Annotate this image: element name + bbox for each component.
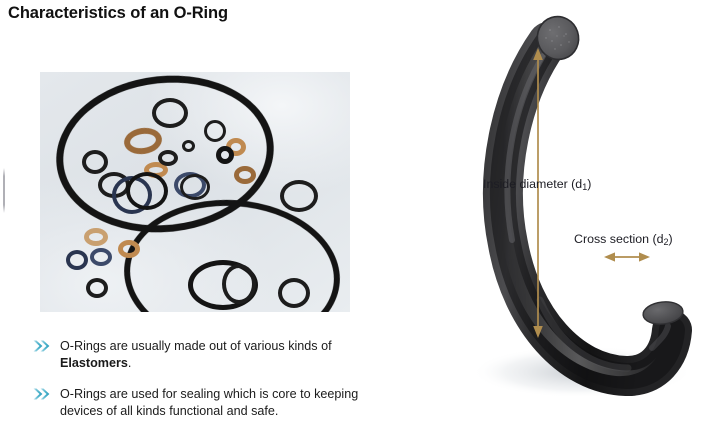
photo-ring-right [280,180,318,212]
o-ring-cross-section-diagram [430,0,715,448]
bullet-1-bold: Elastomers [60,356,128,370]
bullet-2-text-before: O-Rings are used for sealing which is co… [60,387,358,418]
photo-ring-tiny-center [182,140,195,152]
bullet-item-1: O-Rings are usually made out of various … [33,338,378,371]
photo-ring-left-a [82,150,108,174]
photo-ring-br-small [222,264,256,304]
o-rings-assortment-photo [40,72,350,312]
cross-section-label: Cross section (d2) [574,232,673,246]
photo-ring-left-c [126,172,168,210]
photo-ring-blue-ll2 [90,248,112,266]
inside-diameter-subscript: 1 [582,182,587,192]
left-edge-divider [3,168,5,213]
cross-section-subscript: 2 [664,237,669,247]
bullet-item-2-text: O-Rings are used for sealing which is co… [60,386,383,419]
photo-ring-top-mid [152,98,188,128]
photo-ring-mid-small [158,150,178,166]
page-title: Characteristics of an O-Ring [8,4,228,23]
double-chevron-right-icon [33,388,51,400]
oring-body [503,42,672,376]
cross-section-label-end: ) [669,232,673,246]
bullet-item-1-text: O-Rings are usually made out of various … [60,338,378,371]
photo-ring-br-small2 [278,278,310,308]
o-ring-illustration [430,0,715,448]
photo-ring-tan-ll [84,228,108,246]
inside-diameter-label-end: ) [587,177,591,191]
photo-ring-blk-ll [86,278,108,298]
inside-diameter-label: Inside diameter (d1) [483,177,591,191]
photo-ring-copper-ll [118,240,140,258]
cross-section-label-text: Cross section (d [574,232,664,246]
bullet-item-2: O-Rings are used for sealing which is co… [33,386,383,419]
bullet-1-text-before: O-Rings are usually made out of various … [60,339,332,353]
inside-diameter-label-text: Inside diameter (d [483,177,582,191]
photo-ring-small-ur [204,120,226,142]
photo-ring-center-blk [180,174,210,200]
photo-ring-copper-right2 [234,166,256,184]
photo-ring-blue-ll [66,250,88,270]
bullet-1-text-after: . [128,356,132,370]
photo-ring-dark-mid [216,146,234,164]
double-chevron-right-icon [33,340,51,352]
cross-section-arrow [604,252,650,261]
